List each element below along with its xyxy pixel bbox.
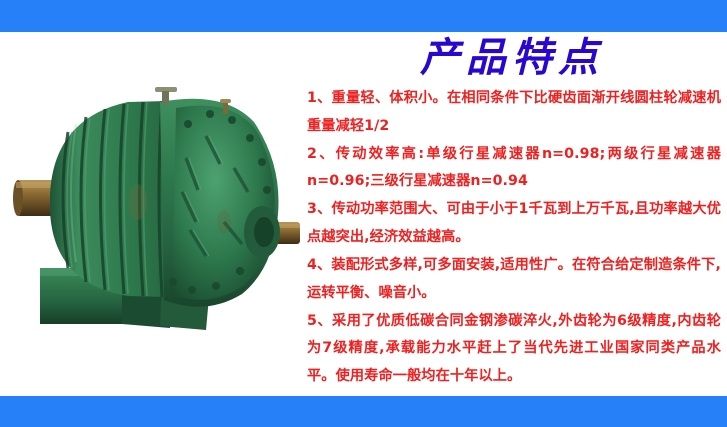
- list-item: 4、装配形式多样,可多面安装,适用性广。在符合给定制造条件下,运转平衡、噪音小。: [307, 252, 721, 307]
- top-blue-banner: [0, 0, 727, 32]
- output-hub: [244, 206, 280, 258]
- rust-patch: [129, 184, 147, 220]
- gear-case-body: [160, 99, 279, 307]
- list-item: 1、重量轻、体积小。在相同条件下比硬齿面渐开线圆柱轮减速机重量减轻1/2: [307, 85, 721, 140]
- rust-patch: [217, 210, 231, 234]
- feature-list: 1、重量轻、体积小。在相同条件下比硬齿面渐开线圆柱轮减速机重量减轻1/2 2、传…: [307, 85, 721, 391]
- list-item: 3、传动功率范围大、可由于小于1千瓦到上万千瓦,且功率越大优点越突出,经济效益越…: [307, 196, 721, 251]
- product-feature-banner: 产品特点 1、重量轻、体积小。在相同条件下比硬齿面渐开线圆柱轮减速机重量减轻1/…: [0, 0, 727, 427]
- gear-reducer-illustration: [10, 72, 300, 332]
- feature-text-column: 产品特点 1、重量轻、体积小。在相同条件下比硬齿面渐开线圆柱轮减速机重量减轻1/…: [303, 33, 721, 393]
- bottom-blue-banner: [0, 396, 727, 427]
- page-title: 产品特点: [303, 35, 721, 81]
- product-photo: [10, 72, 300, 332]
- list-item: 2、传动效率高:单级行星减速器n=0.98;两级行星减速器n=0.96;三级行星…: [307, 141, 721, 196]
- list-item: 5、采用了优质低碳合同金钢渗碳淬火,外齿轮为6级精度,内齿轮为7级精度,承载能力…: [307, 308, 721, 391]
